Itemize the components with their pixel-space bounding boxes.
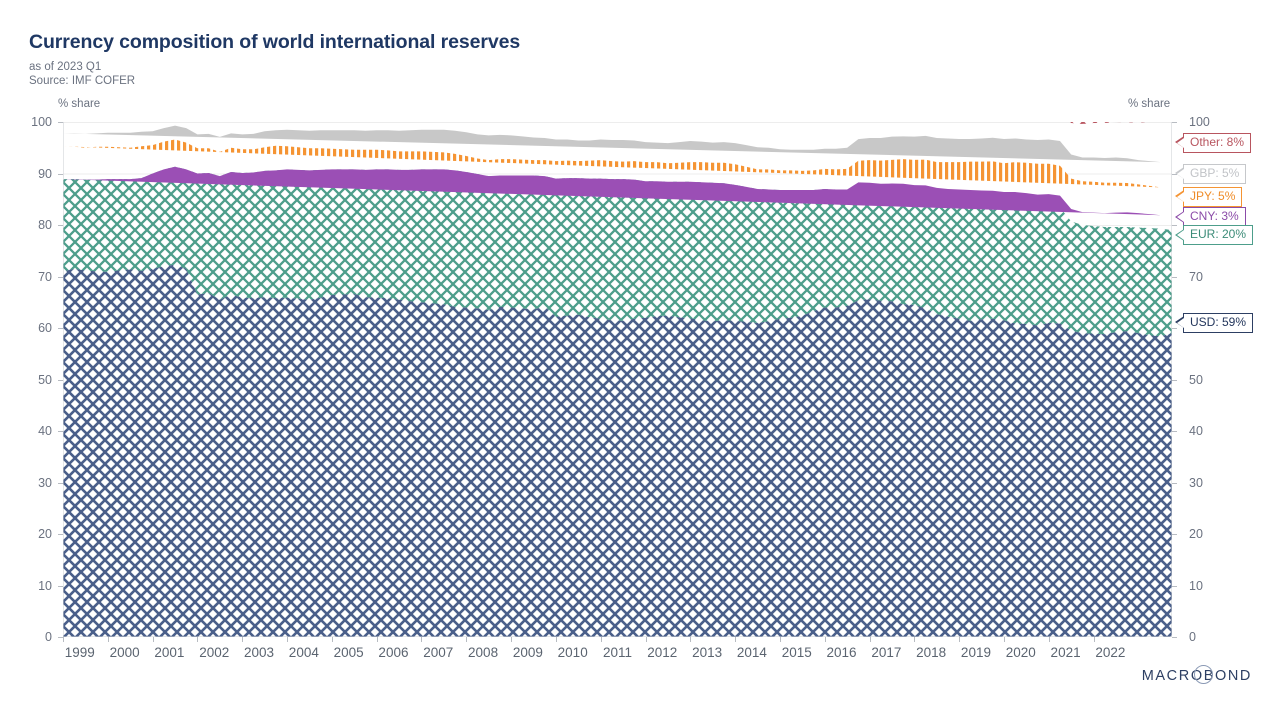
y-tick-label-left: 20 — [0, 527, 52, 541]
x-tickmark — [870, 637, 871, 642]
x-tick-label: 2014 — [737, 645, 767, 660]
x-tickmark — [242, 637, 243, 642]
x-tickmark — [646, 637, 647, 642]
x-tick-label: 2021 — [1051, 645, 1081, 660]
x-tick-label: 2009 — [513, 645, 543, 660]
x-tick-label: 2020 — [1006, 645, 1036, 660]
x-tickmark — [735, 637, 736, 642]
stacked-area-svg — [63, 122, 1172, 637]
x-tickmark — [1049, 637, 1050, 642]
x-tick-label: 2000 — [110, 645, 140, 660]
x-tickmark — [332, 637, 333, 642]
y-tick-label-left: 0 — [0, 630, 52, 644]
y-tickmark-left — [58, 328, 63, 329]
x-tickmark — [108, 637, 109, 642]
y-tickmark-left — [58, 586, 63, 587]
y-tick-label-left: 70 — [0, 270, 52, 284]
y-tick-label-left: 50 — [0, 373, 52, 387]
x-tickmark — [601, 637, 602, 642]
chart-plot-area — [63, 122, 1172, 637]
y-tickmark-right — [1172, 483, 1177, 484]
x-tick-label: 2018 — [916, 645, 946, 660]
x-tick-label: 2004 — [289, 645, 319, 660]
x-tickmark — [197, 637, 198, 642]
callout-cny[interactable]: CNY: 3% — [1183, 207, 1246, 227]
chart-page: Currency composition of world internatio… — [0, 0, 1280, 720]
chart-source: Source: IMF COFER — [29, 74, 135, 89]
x-tick-label: 2005 — [334, 645, 364, 660]
x-tickmark — [1004, 637, 1005, 642]
x-tickmark — [914, 637, 915, 642]
y-tickmark-right — [1172, 534, 1177, 535]
logo-ring-icon — [1194, 665, 1213, 684]
callout-eur[interactable]: EUR: 20% — [1183, 225, 1253, 245]
x-tick-label: 2016 — [827, 645, 857, 660]
x-tick-label: 2013 — [692, 645, 722, 660]
x-tickmark — [959, 637, 960, 642]
y-tickmark-left — [58, 122, 63, 123]
area-series-gbp — [63, 126, 1161, 163]
x-tickmark — [63, 637, 64, 642]
x-tickmark — [287, 637, 288, 642]
y-tick-label-right: 30 — [1189, 476, 1203, 490]
page-title: Currency composition of world internatio… — [29, 31, 520, 54]
y-tickmark-right — [1172, 380, 1177, 381]
chart-subtitle: as of 2023 Q1 — [29, 60, 101, 75]
y-tick-label-right: 100 — [1189, 115, 1210, 129]
y-tick-label-left: 60 — [0, 321, 52, 335]
y-tickmark-left — [58, 174, 63, 175]
y-tick-label-left: 40 — [0, 424, 52, 438]
y-tickmark-left — [58, 534, 63, 535]
x-tickmark — [153, 637, 154, 642]
x-tick-label: 2002 — [199, 645, 229, 660]
x-tick-label: 2008 — [468, 645, 498, 660]
y-tick-label-right: 10 — [1189, 579, 1203, 593]
y-tickmark-left — [58, 277, 63, 278]
y-tick-label-right: 40 — [1189, 424, 1203, 438]
y-tickmark-right — [1172, 122, 1177, 123]
y-tick-label-right: 50 — [1189, 373, 1203, 387]
callout-jpy[interactable]: JPY: 5% — [1183, 187, 1242, 207]
y-tick-label-right: 20 — [1189, 527, 1203, 541]
x-tick-label: 2019 — [961, 645, 991, 660]
x-tick-label: 2012 — [647, 645, 677, 660]
y-tick-label-left: 90 — [0, 167, 52, 181]
x-tick-label: 2022 — [1095, 645, 1125, 660]
x-tick-label: 2011 — [603, 645, 632, 660]
x-tickmark — [825, 637, 826, 642]
x-tick-label: 2006 — [378, 645, 408, 660]
callout-usd[interactable]: USD: 59% — [1183, 313, 1253, 333]
x-tickmark — [466, 637, 467, 642]
x-tick-label: 1999 — [65, 645, 95, 660]
x-tick-label: 2001 — [154, 645, 184, 660]
y-tickmark-left — [58, 225, 63, 226]
y-tickmark-left — [58, 431, 63, 432]
y-tickmark-right — [1172, 225, 1177, 226]
callout-other[interactable]: Other: 8% — [1183, 133, 1251, 153]
y-tickmark-right — [1172, 586, 1177, 587]
y-tick-label-right: 70 — [1189, 270, 1203, 284]
x-tickmark — [1094, 637, 1095, 642]
y-tick-label-left: 100 — [0, 115, 52, 129]
y-tick-label-right: 0 — [1189, 630, 1196, 644]
callout-gbp[interactable]: GBP: 5% — [1183, 164, 1246, 184]
macrobond-logo: MACROBOND — [1142, 667, 1252, 685]
y-tick-label-left: 80 — [0, 218, 52, 232]
x-tick-label: 2017 — [871, 645, 901, 660]
right-axis-unit: % share — [1128, 98, 1170, 110]
y-tickmark-right — [1172, 431, 1177, 432]
x-tick-label: 2015 — [782, 645, 812, 660]
x-tickmark — [780, 637, 781, 642]
y-tickmark-left — [58, 483, 63, 484]
x-tickmark — [556, 637, 557, 642]
left-axis-unit: % share — [58, 98, 100, 110]
y-tickmark-right — [1172, 277, 1177, 278]
x-tickmark — [690, 637, 691, 642]
x-tickmark — [421, 637, 422, 642]
x-tick-label: 2003 — [244, 645, 274, 660]
x-tickmark — [377, 637, 378, 642]
x-tick-label: 2007 — [423, 645, 453, 660]
y-tick-label-left: 10 — [0, 579, 52, 593]
y-tick-label-left: 30 — [0, 476, 52, 490]
y-tickmark-left — [58, 380, 63, 381]
x-tick-label: 2010 — [558, 645, 588, 660]
x-tickmark — [511, 637, 512, 642]
y-tickmark-right — [1172, 637, 1177, 638]
